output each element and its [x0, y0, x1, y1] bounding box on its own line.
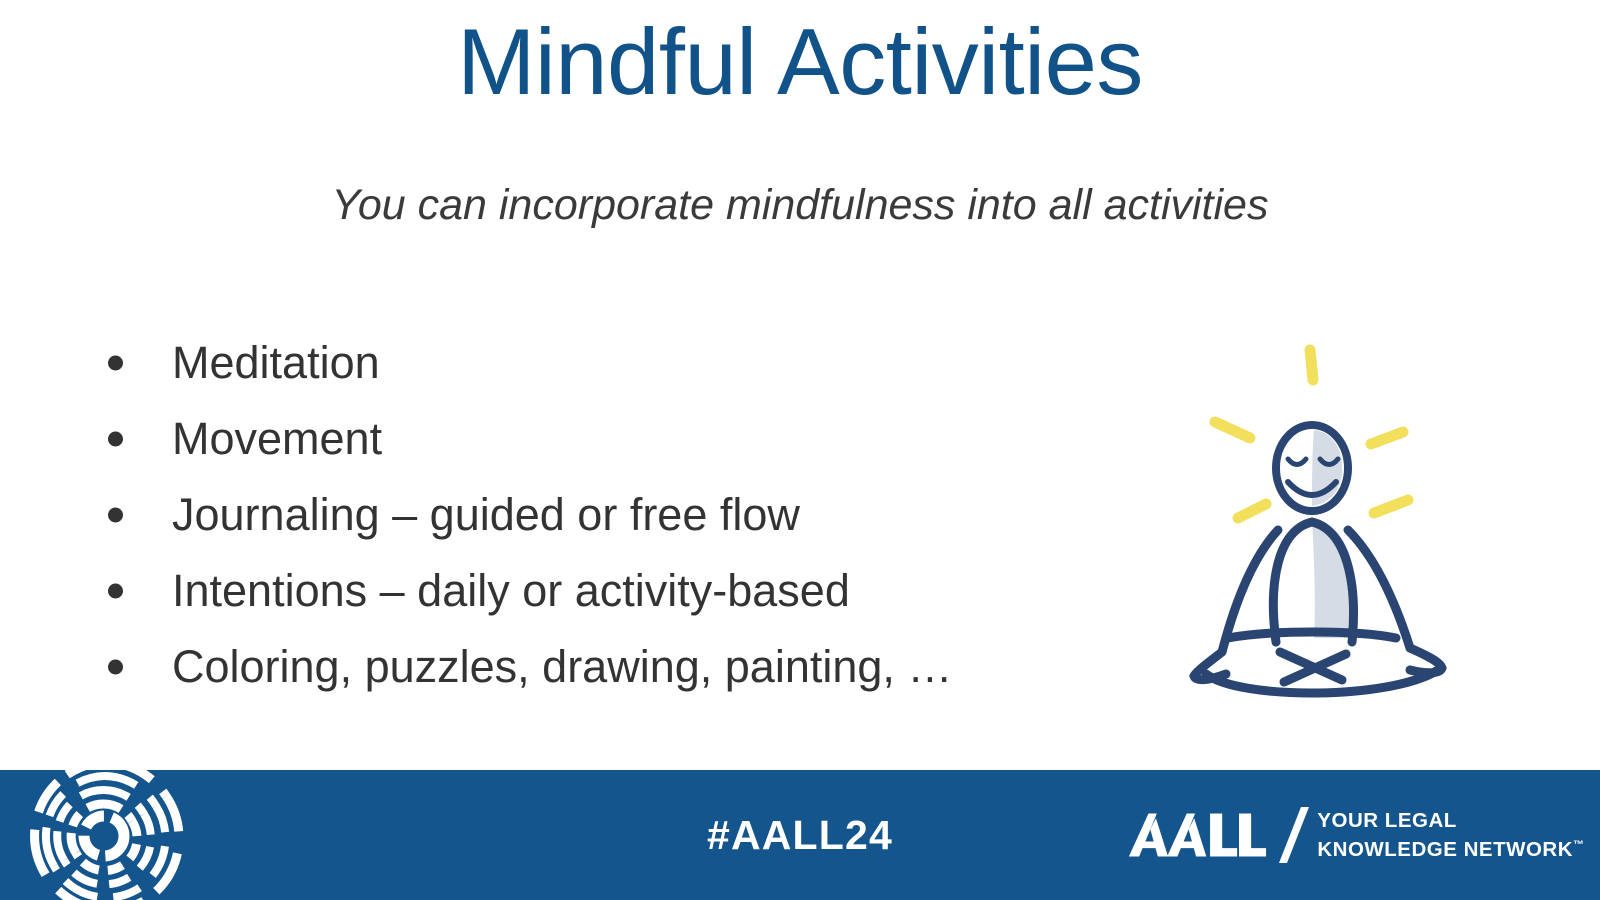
brand-tagline-line2-wrap: KNOWLEDGE NETWORK™: [1317, 833, 1584, 862]
list-item: Journaling – guided or free flow: [96, 477, 1156, 553]
list-item: Intentions – daily or activity-based: [96, 553, 1156, 629]
brand-tagline-line2: KNOWLEDGE NETWORK: [1317, 838, 1573, 861]
page-title: Mindful Activities: [0, 6, 1600, 118]
list-item-label: Intentions – daily or activity-based: [172, 563, 850, 619]
brand-tagline: YOUR LEGAL KNOWLEDGE NETWORK™: [1317, 808, 1584, 862]
list-item-label: Movement: [172, 411, 382, 467]
list-item-label: Journaling – guided or free flow: [172, 487, 800, 543]
mindful-activities-list: Meditation Movement Journaling – guided …: [96, 325, 1156, 705]
list-item: Movement: [96, 401, 1156, 477]
trademark-symbol: ™: [1573, 839, 1584, 851]
bullet-dot-icon: [108, 432, 123, 447]
slide: Mindful Activities You can incorporate m…: [0, 0, 1600, 900]
brand-tagline-line1: YOUR LEGAL: [1317, 808, 1584, 833]
list-item-label: Meditation: [172, 335, 380, 391]
bullet-dot-icon: [108, 660, 123, 675]
bullet-dot-icon: [108, 584, 123, 599]
list-item: Coloring, puzzles, drawing, painting, …: [96, 629, 1156, 705]
meditating-person-illustration: [1152, 332, 1472, 700]
aall-brand-lockup: YOUR LEGAL KNOWLEDGE NETWORK™: [1127, 807, 1584, 863]
list-item: Meditation: [96, 325, 1156, 401]
lap-line: [1228, 632, 1396, 638]
slash-divider-icon: [1277, 807, 1311, 863]
bullet-dot-icon: [108, 356, 123, 371]
aall-wordmark-icon: [1127, 813, 1267, 857]
footer-bar: #AALL24: [0, 770, 1600, 900]
slide-subtitle: You can incorporate mindfulness into all…: [0, 177, 1600, 233]
aall-circular-swirl-logo: [18, 750, 190, 900]
bullet-dot-icon: [108, 508, 123, 523]
left-eye-icon: [1288, 459, 1306, 465]
list-item-label: Coloring, puzzles, drawing, painting, …: [172, 639, 952, 695]
